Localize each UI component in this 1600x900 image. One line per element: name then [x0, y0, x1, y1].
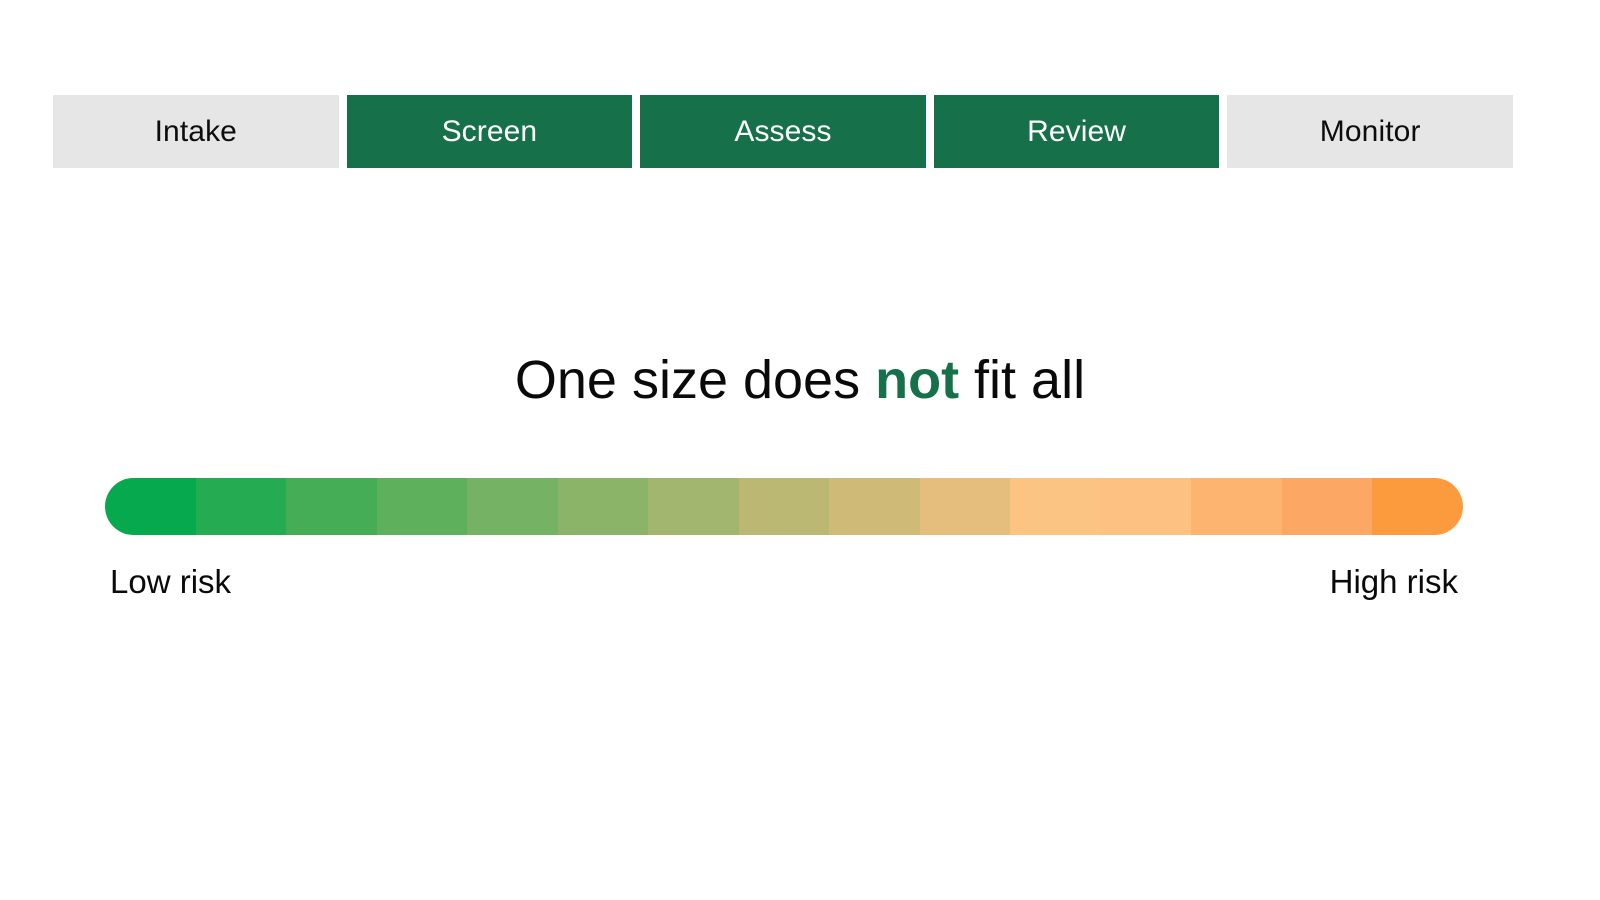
- risk-scale-segment: [920, 478, 1011, 535]
- step-intake[interactable]: Intake: [53, 95, 339, 168]
- risk-scale-bar: [105, 478, 1463, 535]
- headline: One size does not fit all: [0, 349, 1600, 411]
- risk-scale-segment: [739, 478, 830, 535]
- slide-canvas: Intake Screen Assess Review Monitor One …: [0, 0, 1600, 900]
- risk-scale-labels: Low risk High risk: [110, 565, 1458, 598]
- step-review[interactable]: Review: [934, 95, 1220, 168]
- risk-scale-segment: [1282, 478, 1373, 535]
- step-label: Monitor: [1320, 117, 1421, 147]
- risk-scale-segment: [558, 478, 649, 535]
- step-monitor[interactable]: Monitor: [1227, 95, 1513, 168]
- risk-scale-segment: [829, 478, 920, 535]
- step-label: Screen: [442, 117, 538, 147]
- step-label: Assess: [734, 117, 831, 147]
- risk-scale-segment: [648, 478, 739, 535]
- step-label: Intake: [155, 117, 237, 147]
- risk-scale-segment: [105, 478, 196, 535]
- risk-scale-segment: [286, 478, 377, 535]
- high-risk-label: High risk: [1330, 565, 1458, 598]
- risk-scale-segment: [1191, 478, 1282, 535]
- headline-before: One size does: [515, 350, 875, 410]
- step-screen[interactable]: Screen: [347, 95, 633, 168]
- risk-scale-segment: [1372, 478, 1463, 535]
- headline-emphasis: not: [875, 350, 959, 410]
- process-stepper: Intake Screen Assess Review Monitor: [53, 95, 1513, 168]
- risk-scale-segment: [1010, 478, 1101, 535]
- risk-scale-segment: [377, 478, 468, 535]
- risk-scale: [105, 478, 1463, 535]
- risk-scale-segment: [196, 478, 287, 535]
- step-label: Review: [1027, 117, 1126, 147]
- step-assess[interactable]: Assess: [640, 95, 926, 168]
- headline-after: fit all: [959, 350, 1085, 410]
- low-risk-label: Low risk: [110, 565, 231, 598]
- risk-scale-segment: [1101, 478, 1192, 535]
- risk-scale-segment: [467, 478, 558, 535]
